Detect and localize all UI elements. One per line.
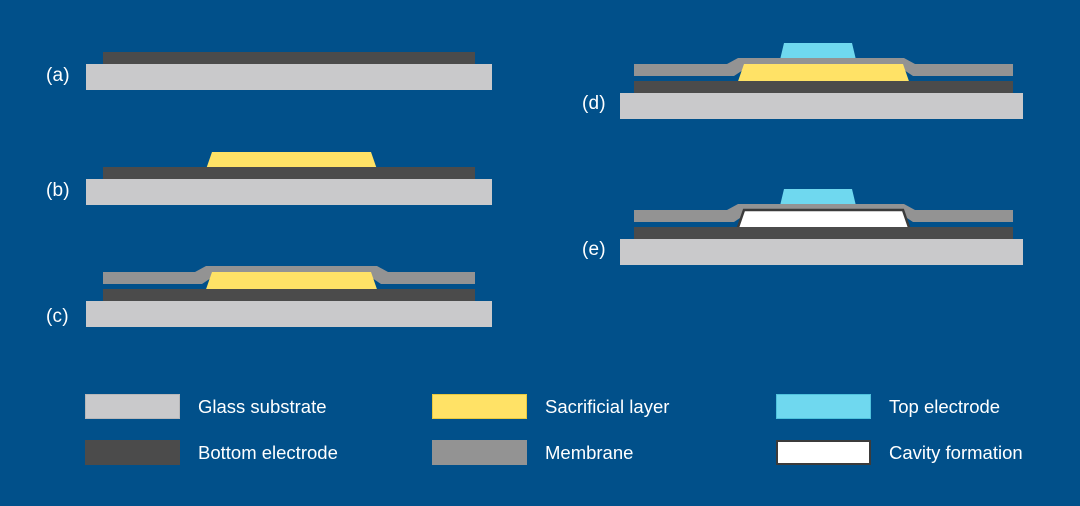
panel-a-bottom-electrode [103,52,475,64]
panel-d-bottom-electrode [634,81,1013,93]
panel-a-stack [86,52,492,90]
fabrication-process-figure: (a) (b) (c) (d) (e) Glass substrate Bott… [0,0,1080,506]
legend-item-sacrificial-layer: Sacrificial layer [432,394,669,419]
panel-label-c: (c) [46,306,69,328]
legend-label-top-electrode: Top electrode [889,396,1000,418]
legend-item-glass-substrate: Glass substrate [85,394,327,419]
panel-label-d: (d) [582,93,606,115]
legend-item-membrane: Membrane [432,440,633,465]
legend-swatch-membrane [432,440,527,465]
panel-label-b: (b) [46,180,70,202]
panel-a-glass-substrate [86,64,492,90]
panel-c-bottom-electrode [103,289,475,301]
legend-item-bottom-electrode: Bottom electrode [85,440,338,465]
panel-c-glass-substrate [86,301,492,327]
legend-label-cavity-formation: Cavity formation [889,442,1023,464]
legend-label-glass-substrate: Glass substrate [198,396,327,418]
panel-b-bottom-electrode [103,167,475,179]
panel-label-a: (a) [46,65,70,87]
panel-d-stack [620,43,1023,119]
legend-label-sacrificial-layer: Sacrificial layer [545,396,669,418]
panel-b-stack [86,152,492,205]
legend-swatch-top-electrode [776,394,871,419]
legend-item-top-electrode: Top electrode [776,394,1000,419]
legend-label-bottom-electrode: Bottom electrode [198,442,338,464]
panel-e-bottom-electrode [634,227,1013,239]
panel-e-glass-substrate [620,239,1023,265]
legend-item-cavity-formation: Cavity formation [776,440,1023,465]
panel-e-stack [620,189,1023,265]
panel-c-stack [86,266,492,327]
process-flow-svg [0,0,1080,506]
panel-label-e: (e) [582,239,606,261]
legend-label-membrane: Membrane [545,442,633,464]
legend-swatch-cavity-formation [776,440,871,465]
legend-swatch-glass-substrate [85,394,180,419]
panel-d-glass-substrate [620,93,1023,119]
legend-swatch-bottom-electrode [85,440,180,465]
legend-swatch-sacrificial-layer [432,394,527,419]
panel-b-glass-substrate [86,179,492,205]
